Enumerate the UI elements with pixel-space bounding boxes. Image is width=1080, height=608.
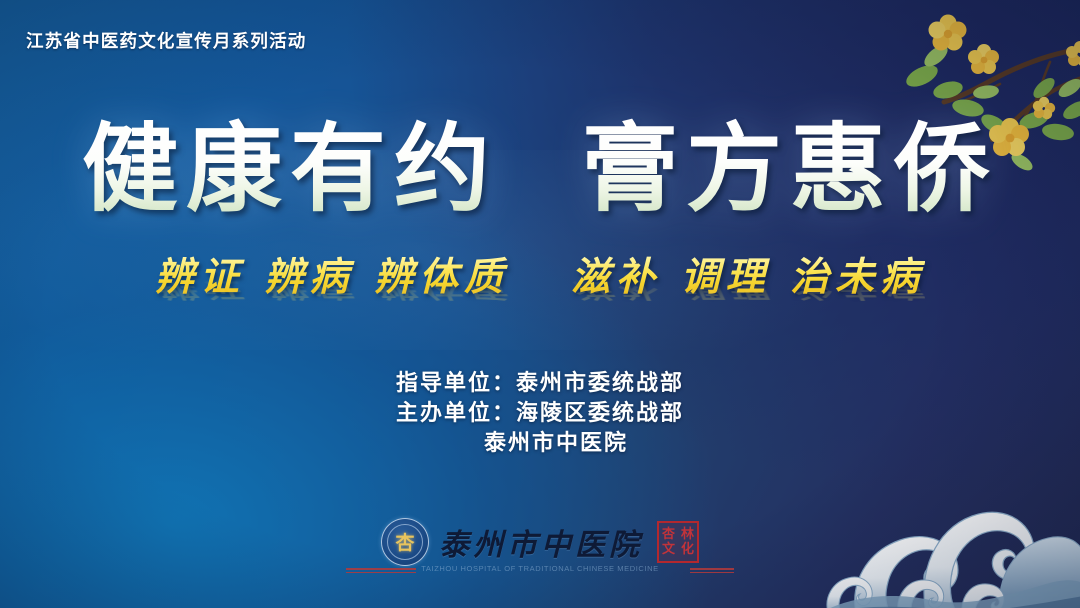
footer-rule-left (346, 568, 416, 574)
organizer-line-guidance: 指导单位：泰州市委统战部 (0, 368, 1080, 398)
hospital-name-calligraphy: 泰州市中医院 (439, 520, 643, 564)
subtitle-right-group: 滋补 调理 治未病 滋补 调理 治未病 (571, 256, 925, 344)
seal-char-1: 杏 (659, 527, 678, 542)
seal-char-4: 化 (678, 542, 697, 557)
subtitle-left: 辨证 辨病 辨体质 (155, 256, 509, 300)
subtitle-row: 辨证 辨病 辨体质 辨证 辨病 辨体质 滋补 调理 治未病 滋补 调理 治未病 (0, 256, 1080, 344)
hospital-logo-lockup: 杏 泰州市中医院 杏 林 文 化 (381, 518, 699, 566)
footer-rule-right (690, 568, 734, 574)
organizer-block: 指导单位：泰州市委统战部 主办单位：海陵区委统战部 泰州市中医院 (0, 368, 1080, 458)
osmanthus-branch-icon (836, 0, 1080, 192)
main-title: 健康有约 膏方惠侨 (0, 118, 1080, 220)
footer-rule-left-bar-2 (346, 572, 416, 574)
emblem-glyph: 杏 (382, 528, 428, 555)
footer-rule-left-bar-1 (346, 568, 416, 570)
organizer-line-hospital: 泰州市中医院 (0, 428, 1080, 458)
main-title-left: 健康有约 (82, 118, 498, 220)
seal-char-3: 文 (659, 542, 678, 557)
subtitle-left-group: 辨证 辨病 辨体质 辨证 辨病 辨体质 (155, 256, 509, 344)
red-seal-icon: 杏 林 文 化 (657, 521, 699, 563)
chinese-wave-pattern-icon (822, 434, 1080, 608)
footer-rule-right-bar-1 (690, 568, 734, 570)
vignette-overlay (0, 0, 1080, 608)
hospital-emblem-icon: 杏 (381, 518, 429, 566)
subtitle-right-reflection: 滋补 调理 治未病 (571, 277, 925, 301)
campaign-header-text: 江苏省中医药文化宣传月系列活动 (26, 28, 307, 53)
organizer-line-host: 主办单位：海陵区委统战部 (0, 398, 1080, 428)
subtitle-right: 滋补 调理 治未病 (571, 256, 925, 300)
seal-char-2: 林 (678, 527, 697, 542)
subtitle-left-reflection: 辨证 辨病 辨体质 (155, 277, 509, 301)
main-title-right: 膏方惠侨 (582, 118, 998, 220)
title-light-band (0, 150, 1080, 350)
footer-rule-right-bar-2 (690, 572, 734, 574)
poster-canvas: 江苏省中医药文化宣传月系列活动 健康有约 膏方惠侨 辨证 辨病 辨体质 辨证 辨… (0, 0, 1080, 608)
